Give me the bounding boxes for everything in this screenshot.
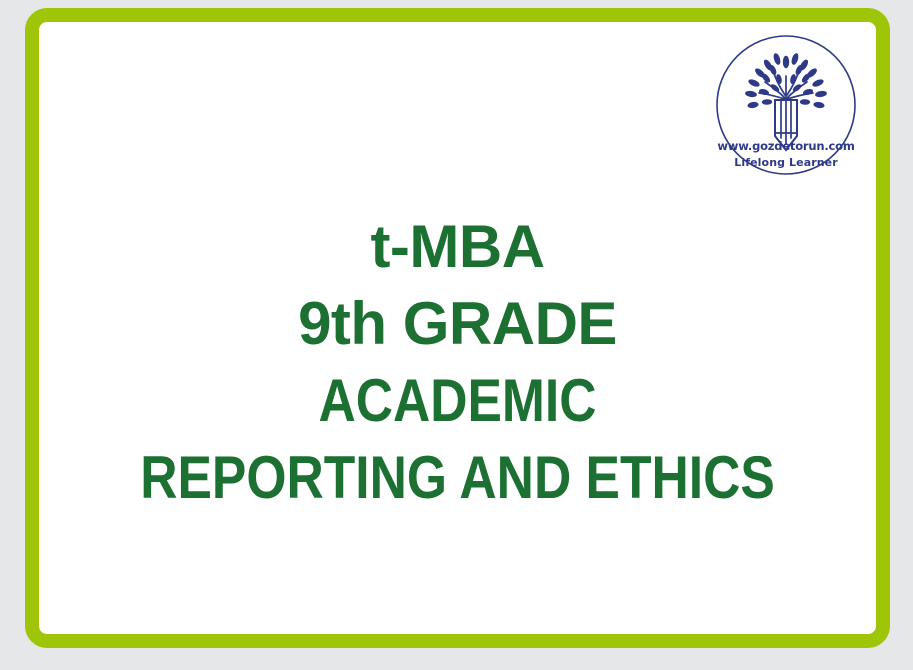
brand-logo[interactable]: www.gozdetorun.com Lifelong Learner <box>711 32 861 182</box>
title-line-academic: ACADEMIC <box>98 362 818 439</box>
title-line-program: t-MBA <box>39 208 876 285</box>
slide-content-area: www.gozdetorun.com Lifelong Learner t-MB… <box>39 22 876 634</box>
slide-title-block: t-MBA 9th GRADE ACADEMIC REPORTING AND E… <box>39 208 876 516</box>
slide-stage: www.gozdetorun.com Lifelong Learner t-MB… <box>0 0 913 670</box>
logo-tagline-text: Lifelong Learner <box>734 156 838 169</box>
slide-card: www.gozdetorun.com Lifelong Learner t-MB… <box>25 8 890 648</box>
title-line-grade: 9th GRADE <box>39 285 876 362</box>
logo-url-text: www.gozdetorun.com <box>717 139 854 153</box>
title-line-subject: REPORTING AND ETHICS <box>98 439 818 516</box>
